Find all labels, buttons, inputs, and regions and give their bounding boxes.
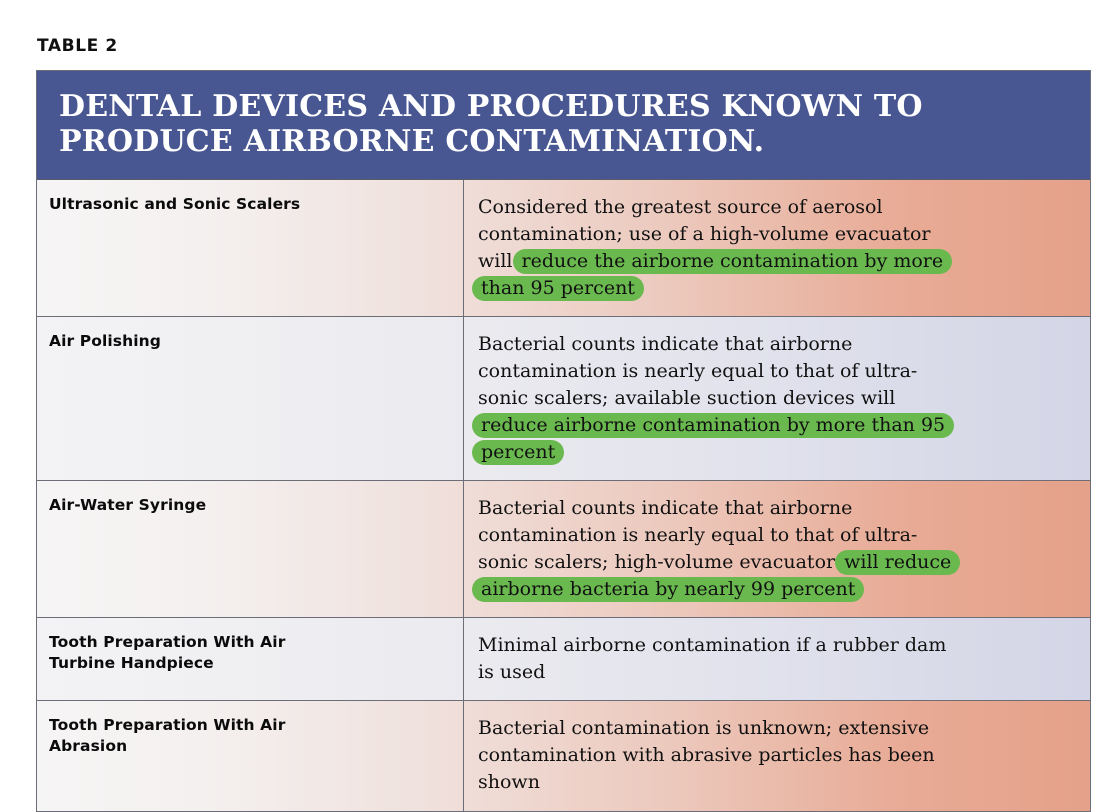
table-row: Tooth Preparation With Air Turbine Handp…	[37, 618, 1090, 701]
highlighted-text: percent	[472, 440, 564, 465]
description-text: sonic scalers; available suction devices…	[478, 387, 895, 409]
table-row-description: Bacterial counts indicate that airbornec…	[464, 317, 1090, 480]
table-row: Ultrasonic and Sonic ScalersConsidered t…	[37, 180, 1090, 317]
table-row: Air PolishingBacterial counts indicate t…	[37, 317, 1090, 481]
description-text: is used	[478, 661, 545, 683]
description-text: Bacterial counts indicate that airborne	[478, 497, 852, 519]
description-line: Bacterial contamination is unknown; exte…	[478, 715, 1074, 742]
table-body: Ultrasonic and Sonic ScalersConsidered t…	[37, 180, 1090, 811]
table-row: Air-Water SyringeBacterial counts indica…	[37, 481, 1090, 618]
description-line: than 95 percent	[478, 275, 1074, 302]
description-line: Bacterial counts indicate that airborne	[478, 331, 1074, 358]
table-header-band: DENTAL DEVICES AND PROCEDURES KNOWN TO P…	[37, 71, 1090, 180]
table-row-label: Air-Water Syringe	[37, 481, 464, 617]
description-text: contamination with abrasive particles ha…	[478, 744, 935, 766]
description-text: contamination; use of a high-volume evac…	[478, 223, 931, 245]
description-text: sonic scalers; high-volume evacuator	[478, 551, 841, 573]
description-text: contamination is nearly equal to that of…	[478, 524, 917, 546]
description-line: contamination is nearly equal to that of…	[478, 358, 1074, 385]
document-page: TABLE 2 DENTAL DEVICES AND PROCEDURES KN…	[0, 0, 1108, 772]
table-row-label: Tooth Preparation With Air Abrasion	[37, 701, 464, 811]
description-line: sonic scalers; high-volume evacuator wil…	[478, 549, 1074, 576]
description-line: Minimal airborne contamination if a rubb…	[478, 632, 1074, 659]
data-table: DENTAL DEVICES AND PROCEDURES KNOWN TO P…	[36, 70, 1091, 812]
highlighted-text: will reduce	[835, 550, 960, 575]
description-line: is used	[478, 659, 1074, 686]
table-row-description: Bacterial contamination is unknown; exte…	[464, 701, 1090, 811]
description-line: contamination is nearly equal to that of…	[478, 522, 1074, 549]
highlighted-text: than 95 percent	[472, 276, 644, 301]
table-title: DENTAL DEVICES AND PROCEDURES KNOWN TO P…	[59, 89, 1068, 159]
description-text: Bacterial counts indicate that airborne	[478, 333, 852, 355]
table-caption: TABLE 2	[37, 36, 118, 56]
highlighted-text: airborne bacteria by nearly 99 percent	[472, 577, 864, 602]
description-text: Considered the greatest source of aeroso…	[478, 196, 883, 218]
table-row-description: Considered the greatest source of aeroso…	[464, 180, 1090, 316]
table-row: Tooth Preparation With Air AbrasionBacte…	[37, 701, 1090, 811]
highlighted-text: reduce the airborne contamination by mor…	[513, 249, 953, 274]
description-line: shown	[478, 769, 1074, 796]
description-text: shown	[478, 771, 540, 793]
description-line: sonic scalers; available suction devices…	[478, 385, 1074, 412]
description-line: airborne bacteria by nearly 99 percent	[478, 576, 1074, 603]
description-line: percent	[478, 439, 1074, 466]
description-line: Bacterial counts indicate that airborne	[478, 495, 1074, 522]
description-line: contamination with abrasive particles ha…	[478, 742, 1074, 769]
table-row-label: Ultrasonic and Sonic Scalers	[37, 180, 464, 316]
description-text: Bacterial contamination is unknown; exte…	[478, 717, 929, 739]
description-line: reduce airborne contamination by more th…	[478, 412, 1074, 439]
table-row-description: Bacterial counts indicate that airbornec…	[464, 481, 1090, 617]
description-line: Considered the greatest source of aeroso…	[478, 194, 1074, 221]
description-line: will reduce the airborne contamination b…	[478, 248, 1074, 275]
description-line: contamination; use of a high-volume evac…	[478, 221, 1074, 248]
highlighted-text: reduce airborne contamination by more th…	[472, 413, 954, 438]
table-row-label: Air Polishing	[37, 317, 464, 480]
description-text: contamination is nearly equal to that of…	[478, 360, 917, 382]
description-text: Minimal airborne contamination if a rubb…	[478, 634, 946, 656]
table-row-label: Tooth Preparation With Air Turbine Handp…	[37, 618, 464, 700]
table-row-description: Minimal airborne contamination if a rubb…	[464, 618, 1090, 700]
